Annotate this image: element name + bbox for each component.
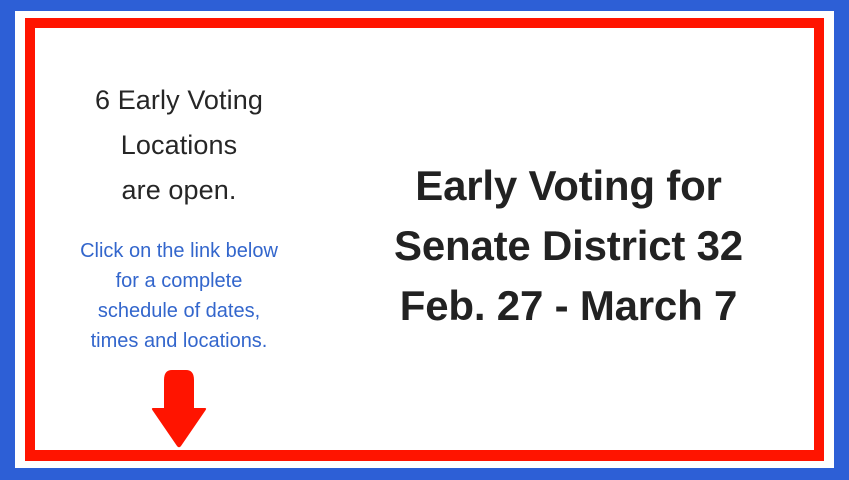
link-line-3: schedule of dates, [64,296,294,326]
headline-line-3: Feb. 27 - March 7 [323,276,814,336]
right-panel: Early Voting for Senate District 32 Feb.… [323,28,814,336]
locations-line-2: Locations [74,123,284,168]
outer-frame-right [834,0,849,480]
link-line-2: for a complete [64,266,294,296]
locations-line-3: are open. [74,168,284,213]
link-line-4: times and locations. [64,326,294,356]
main-headline: Early Voting for Senate District 32 Feb.… [323,156,814,336]
early-voting-flyer: 6 Early Voting Locations are open. Click… [0,0,849,480]
link-line-1: Click on the link below [64,236,294,266]
outer-frame-bottom [0,468,849,480]
arrow-down-container [35,370,323,448]
locations-open-text: 6 Early Voting Locations are open. [74,78,284,213]
inner-frame-bottom [25,450,824,461]
outer-frame-left [0,0,15,480]
locations-line-1: 6 Early Voting [74,78,284,123]
arrow-down-icon [151,370,207,448]
inner-frame-top [25,18,824,28]
headline-line-2: Senate District 32 [323,216,814,276]
link-instruction-text: Click on the link below for a complete s… [64,236,294,356]
inner-frame-left [25,18,35,461]
inner-frame-right [814,18,824,461]
outer-frame-top [0,0,849,11]
headline-line-1: Early Voting for [323,156,814,216]
flyer-content: 6 Early Voting Locations are open. Click… [35,28,814,450]
left-panel: 6 Early Voting Locations are open. Click… [35,28,323,448]
